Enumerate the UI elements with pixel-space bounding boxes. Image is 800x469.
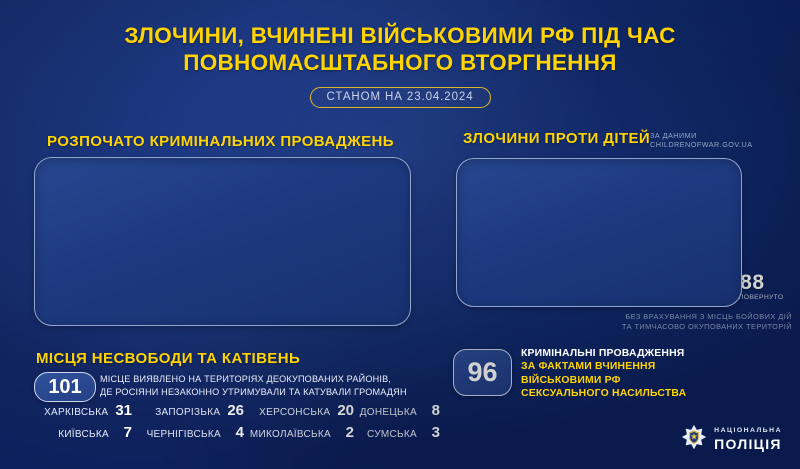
children-footnote: БЕЗ ВРАХУВАННЯ З МІСЦЬ БОЙОВИХ ДІЙ ТА ТИ… [560,312,792,331]
region-name: Чернігівська [147,429,221,440]
police-logo-text: НАЦІОНАЛЬНА ПОЛІЦІЯ [714,428,782,451]
region-name: Київська [58,429,109,440]
header: ЗЛОЧИНИ, ВЧИНЕНІ ВІЙСЬКОВИМИ РФ ПІД ЧАС … [0,22,800,108]
regions-table: Харківська 31 Запорізька 26 Херсонська 2… [22,402,442,446]
region-cell: Київська 7 [22,424,132,441]
region-name: Миколаївська [250,429,331,440]
region-value: 4 [228,424,244,441]
sexual-violence-line-4: СЕКСУАЛЬНОГО НАСИЛЬСТВА [521,388,686,399]
crimes-against-children-title: ЗЛОЧИНИ ПРОТИ ДІТЕЙ [463,130,650,147]
region-name: Донецька [360,407,417,418]
criminal-proceedings-card [34,157,411,326]
region-cell: Харківська 31 [22,402,132,419]
children-source-line-1: ЗА ДАНИМИ [650,131,697,140]
children-footnote-line-2: ТА ТИМЧАСОВО ОКУПОВАНИХ ТЕРИТОРІЙ [622,322,792,331]
region-cell: Херсонська 20 [244,402,354,419]
region-value: 7 [116,424,132,441]
date-badge: СТАНОМ НА 23.04.2024 [310,87,491,108]
region-name: Сумська [367,429,417,440]
crimes-against-children-card [456,158,742,307]
region-value: 31 [115,402,132,419]
detention-count-value: 101 [48,376,81,399]
region-value: 20 [337,402,354,419]
page-title-line-2: ПОВНОМАСШТАБНОГО ВТОРГНЕННЯ [0,49,800,76]
police-logo-line-2: ПОЛІЦІЯ [714,437,782,451]
sexual-violence-count-value: 96 [467,357,497,388]
region-name: Херсонська [259,407,330,418]
regions-row-1: Харківська 31 Запорізька 26 Херсонська 2… [22,402,442,424]
region-name: Харківська [44,407,108,418]
sexual-violence-line-2: ЗА ФАКТАМИ ВЧИНЕННЯ [521,361,655,372]
region-cell: Миколаївська 2 [244,424,354,441]
criminal-proceedings-title: РОЗПОЧАТО КРИМІНАЛЬНИХ ПРОВАДЖЕНЬ [47,133,394,150]
sexual-violence-line-3: ВІЙСЬКОВИМИ РФ [521,375,621,386]
detention-places-title: МІСЦЯ НЕСВОБОДИ ТА КАТІВЕНЬ [36,350,300,367]
page-title: ЗЛОЧИНИ, ВЧИНЕНІ ВІЙСЬКОВИМИ РФ ПІД ЧАС … [0,22,800,76]
police-star-icon [681,424,707,455]
infographic-root: ЗЛОЧИНИ, ВЧИНЕНІ ВІЙСЬКОВИМИ РФ ПІД ЧАС … [0,0,800,469]
detention-description-line-2: ДЕ РОСІЯНИ НЕЗАКОННО УТРИМУВАЛИ ТА КАТУВ… [100,387,407,397]
region-cell: Донецька 8 [354,402,440,419]
children-source-line-2: CHILDRENOFWAR.GOV.UA [650,140,753,149]
region-cell: Чернігівська 4 [132,424,244,441]
detention-description-line-1: МІСЦЕ ВИЯВЛЕНО НА ТЕРИТОРІЯХ ДЕОКУПОВАНИ… [100,374,391,384]
region-value: 2 [338,424,354,441]
detention-description: МІСЦЕ ВИЯВЛЕНО НА ТЕРИТОРІЯХ ДЕОКУПОВАНИ… [100,373,440,399]
detention-count-badge: 101 [34,372,96,402]
region-cell: Сумська 3 [354,424,440,441]
sexual-violence-text: КРИМІНАЛЬНІ ПРОВАДЖЕННЯ ЗА ФАКТАМИ ВЧИНЕ… [521,347,791,400]
region-value: 3 [424,424,440,441]
national-police-logo: НАЦІОНАЛЬНА ПОЛІЦІЯ [681,424,782,455]
police-logo-line-1: НАЦІОНАЛЬНА [714,428,782,435]
region-name: Запорізька [155,407,220,418]
region-value: 26 [227,402,244,419]
children-footnote-line-1: БЕЗ ВРАХУВАННЯ З МІСЦЬ БОЙОВИХ ДІЙ [625,312,792,321]
region-cell: Запорізька 26 [132,402,244,419]
sexual-violence-line-1: КРИМІНАЛЬНІ ПРОВАДЖЕННЯ [521,348,684,359]
page-title-line-1: ЗЛОЧИНИ, ВЧИНЕНІ ВІЙСЬКОВИМИ РФ ПІД ЧАС [124,23,675,48]
children-source-note: ЗА ДАНИМИ CHILDRENOFWAR.GOV.UA [650,131,753,149]
sexual-violence-count-badge: 96 [453,349,512,396]
region-value: 8 [424,402,440,419]
regions-row-2: Київська 7 Чернігівська 4 Миколаївська 2… [22,424,442,446]
